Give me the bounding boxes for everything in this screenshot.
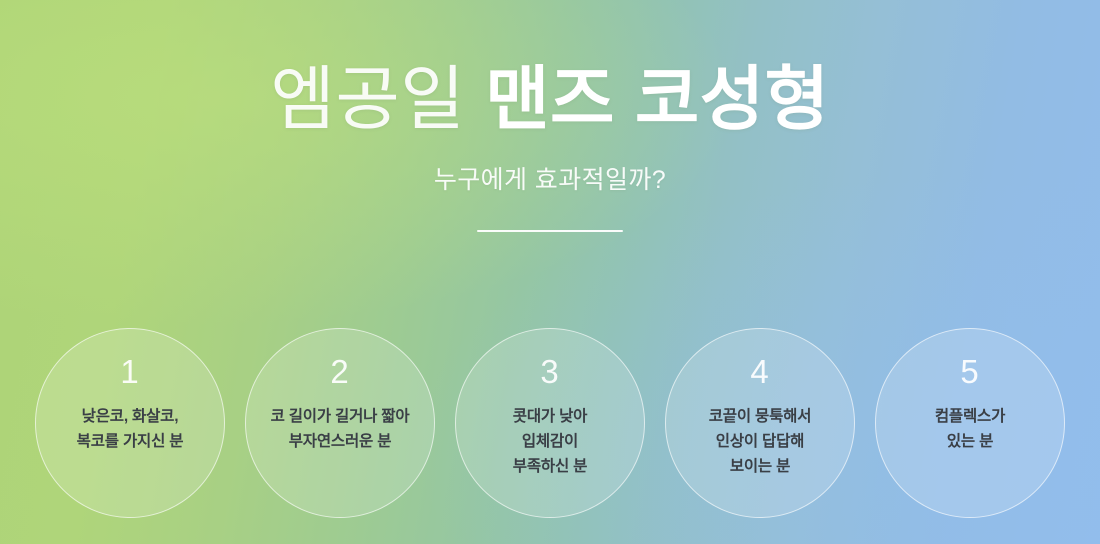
page-subtitle: 누구에게 효과적일까? [0, 160, 1100, 196]
criteria-label: 낮은코, 화살코, 복코를 가지신 분 [23, 404, 238, 454]
criteria-number: 1 [120, 355, 139, 388]
criteria-number: 5 [960, 355, 979, 388]
criteria-number: 3 [540, 355, 559, 388]
page-title-brand: 엠공일 [270, 60, 465, 138]
criteria-label: 컴플렉스가 있는 분 [863, 404, 1078, 454]
page-title-main: 맨즈 코성형 [485, 60, 829, 138]
criteria-circle-2: 2 코 길이가 길거나 짧아 부자연스러운 분 [245, 328, 435, 518]
page-title: 엠공일 맨즈 코성형 [0, 64, 1100, 134]
criteria-label: 코끝이 뭉툭해서 인상이 답답해 보이는 분 [653, 404, 868, 479]
criteria-circle-row: 1 낮은코, 화살코, 복코를 가지신 분 2 코 길이가 길거나 짧아 부자연… [0, 328, 1100, 524]
criteria-number: 2 [330, 355, 349, 388]
criteria-circle-1: 1 낮은코, 화살코, 복코를 가지신 분 [35, 328, 225, 518]
criteria-number: 4 [750, 355, 769, 388]
criteria-circle-4: 4 코끝이 뭉툭해서 인상이 답답해 보이는 분 [665, 328, 855, 518]
promo-banner: 엠공일 맨즈 코성형 누구에게 효과적일까? 1 낮은코, 화살코, 복코를 가… [0, 0, 1100, 544]
criteria-circle-3: 3 콧대가 낮아 입체감이 부족하신 분 [455, 328, 645, 518]
criteria-label: 코 길이가 길거나 짧아 부자연스러운 분 [223, 404, 458, 454]
criteria-label: 콧대가 낮아 입체감이 부족하신 분 [443, 404, 658, 479]
criteria-circle-5: 5 컴플렉스가 있는 분 [875, 328, 1065, 518]
header-divider [477, 230, 623, 232]
banner-header: 엠공일 맨즈 코성형 누구에게 효과적일까? [0, 0, 1100, 232]
